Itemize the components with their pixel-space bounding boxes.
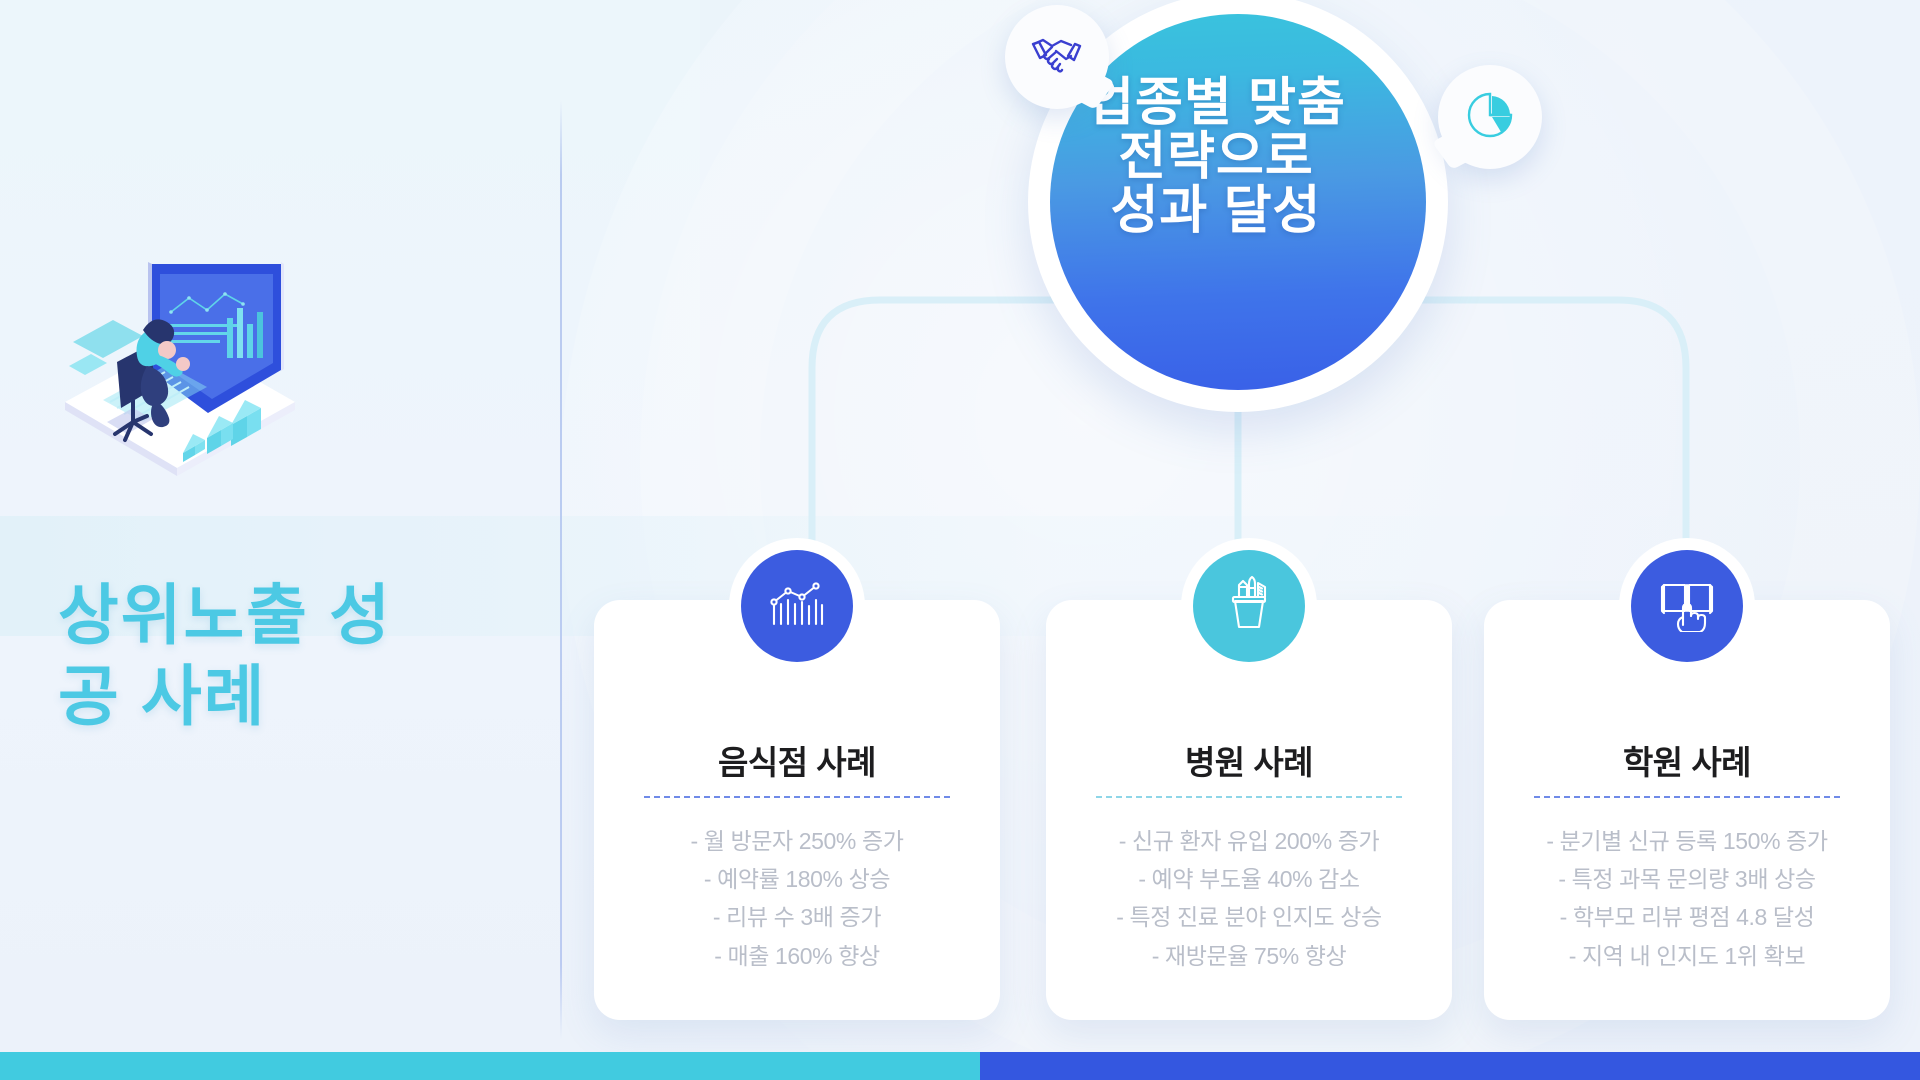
pen-holder-icon (1222, 575, 1276, 638)
bar-line-chart-icon (767, 578, 827, 635)
bottom-accent-bar (0, 1052, 1920, 1080)
card-icon-halo (729, 538, 865, 674)
pie-chart-icon (1465, 90, 1515, 145)
card-icon-halo (1181, 538, 1317, 674)
card-icon-background (1193, 550, 1305, 662)
case-card-hospital[interactable]: 병원 사례 - 신규 환자 유입 200% 증가 - 예약 부도율 40% 감소… (1046, 600, 1452, 1020)
bottom-bar-right-segment (980, 1052, 1920, 1080)
card-divider (1534, 796, 1840, 798)
bottom-bar-left-segment (0, 1052, 980, 1080)
handshake-icon (1030, 34, 1084, 81)
card-icon-background (741, 550, 853, 662)
case-card-academy[interactable]: 학원 사례 - 분기별 신규 등록 150% 증가 - 특정 과목 문의량 3배… (1484, 600, 1890, 1020)
card-title: 음식점 사례 (594, 736, 1000, 784)
card-title: 병원 사례 (1046, 736, 1452, 784)
book-hand-icon (1658, 576, 1716, 637)
case-cards: 음식점 사례 - 월 방문자 250% 증가 - 예약률 180% 상승 - 리… (0, 0, 1920, 1080)
card-bullets: - 신규 환자 유입 200% 증가 - 예약 부도율 40% 감소 - 특정 … (1064, 822, 1434, 975)
card-icon-background (1631, 550, 1743, 662)
card-divider (644, 796, 950, 798)
card-bullets: - 월 방문자 250% 증가 - 예약률 180% 상승 - 리뷰 수 3배 … (612, 822, 982, 975)
card-icon-halo (1619, 538, 1755, 674)
card-bullets: - 분기별 신규 등록 150% 증가 - 특정 과목 문의량 3배 상승 - … (1502, 822, 1872, 975)
card-title: 학원 사례 (1484, 736, 1890, 784)
card-divider (1096, 796, 1402, 798)
case-card-restaurant[interactable]: 음식점 사례 - 월 방문자 250% 증가 - 예약률 180% 상승 - 리… (594, 600, 1000, 1020)
